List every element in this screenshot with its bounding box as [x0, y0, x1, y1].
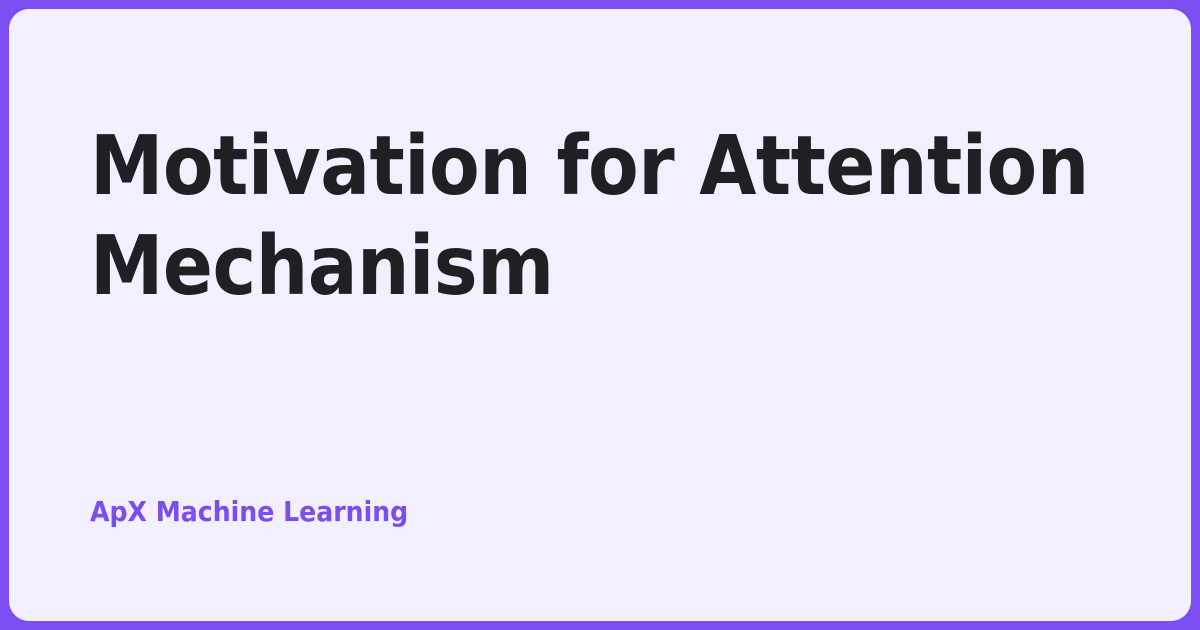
site-name: ApX Machine Learning	[90, 493, 408, 531]
card-surface: Motivation for Attention Mechanism ApX M…	[9, 9, 1191, 621]
og-image-card: Motivation for Attention Mechanism ApX M…	[0, 0, 1200, 630]
title-block: Motivation for Attention Mechanism	[90, 117, 1110, 317]
footer-block: ApX Machine Learning	[90, 493, 408, 531]
page-title: Motivation for Attention Mechanism	[90, 117, 1090, 317]
